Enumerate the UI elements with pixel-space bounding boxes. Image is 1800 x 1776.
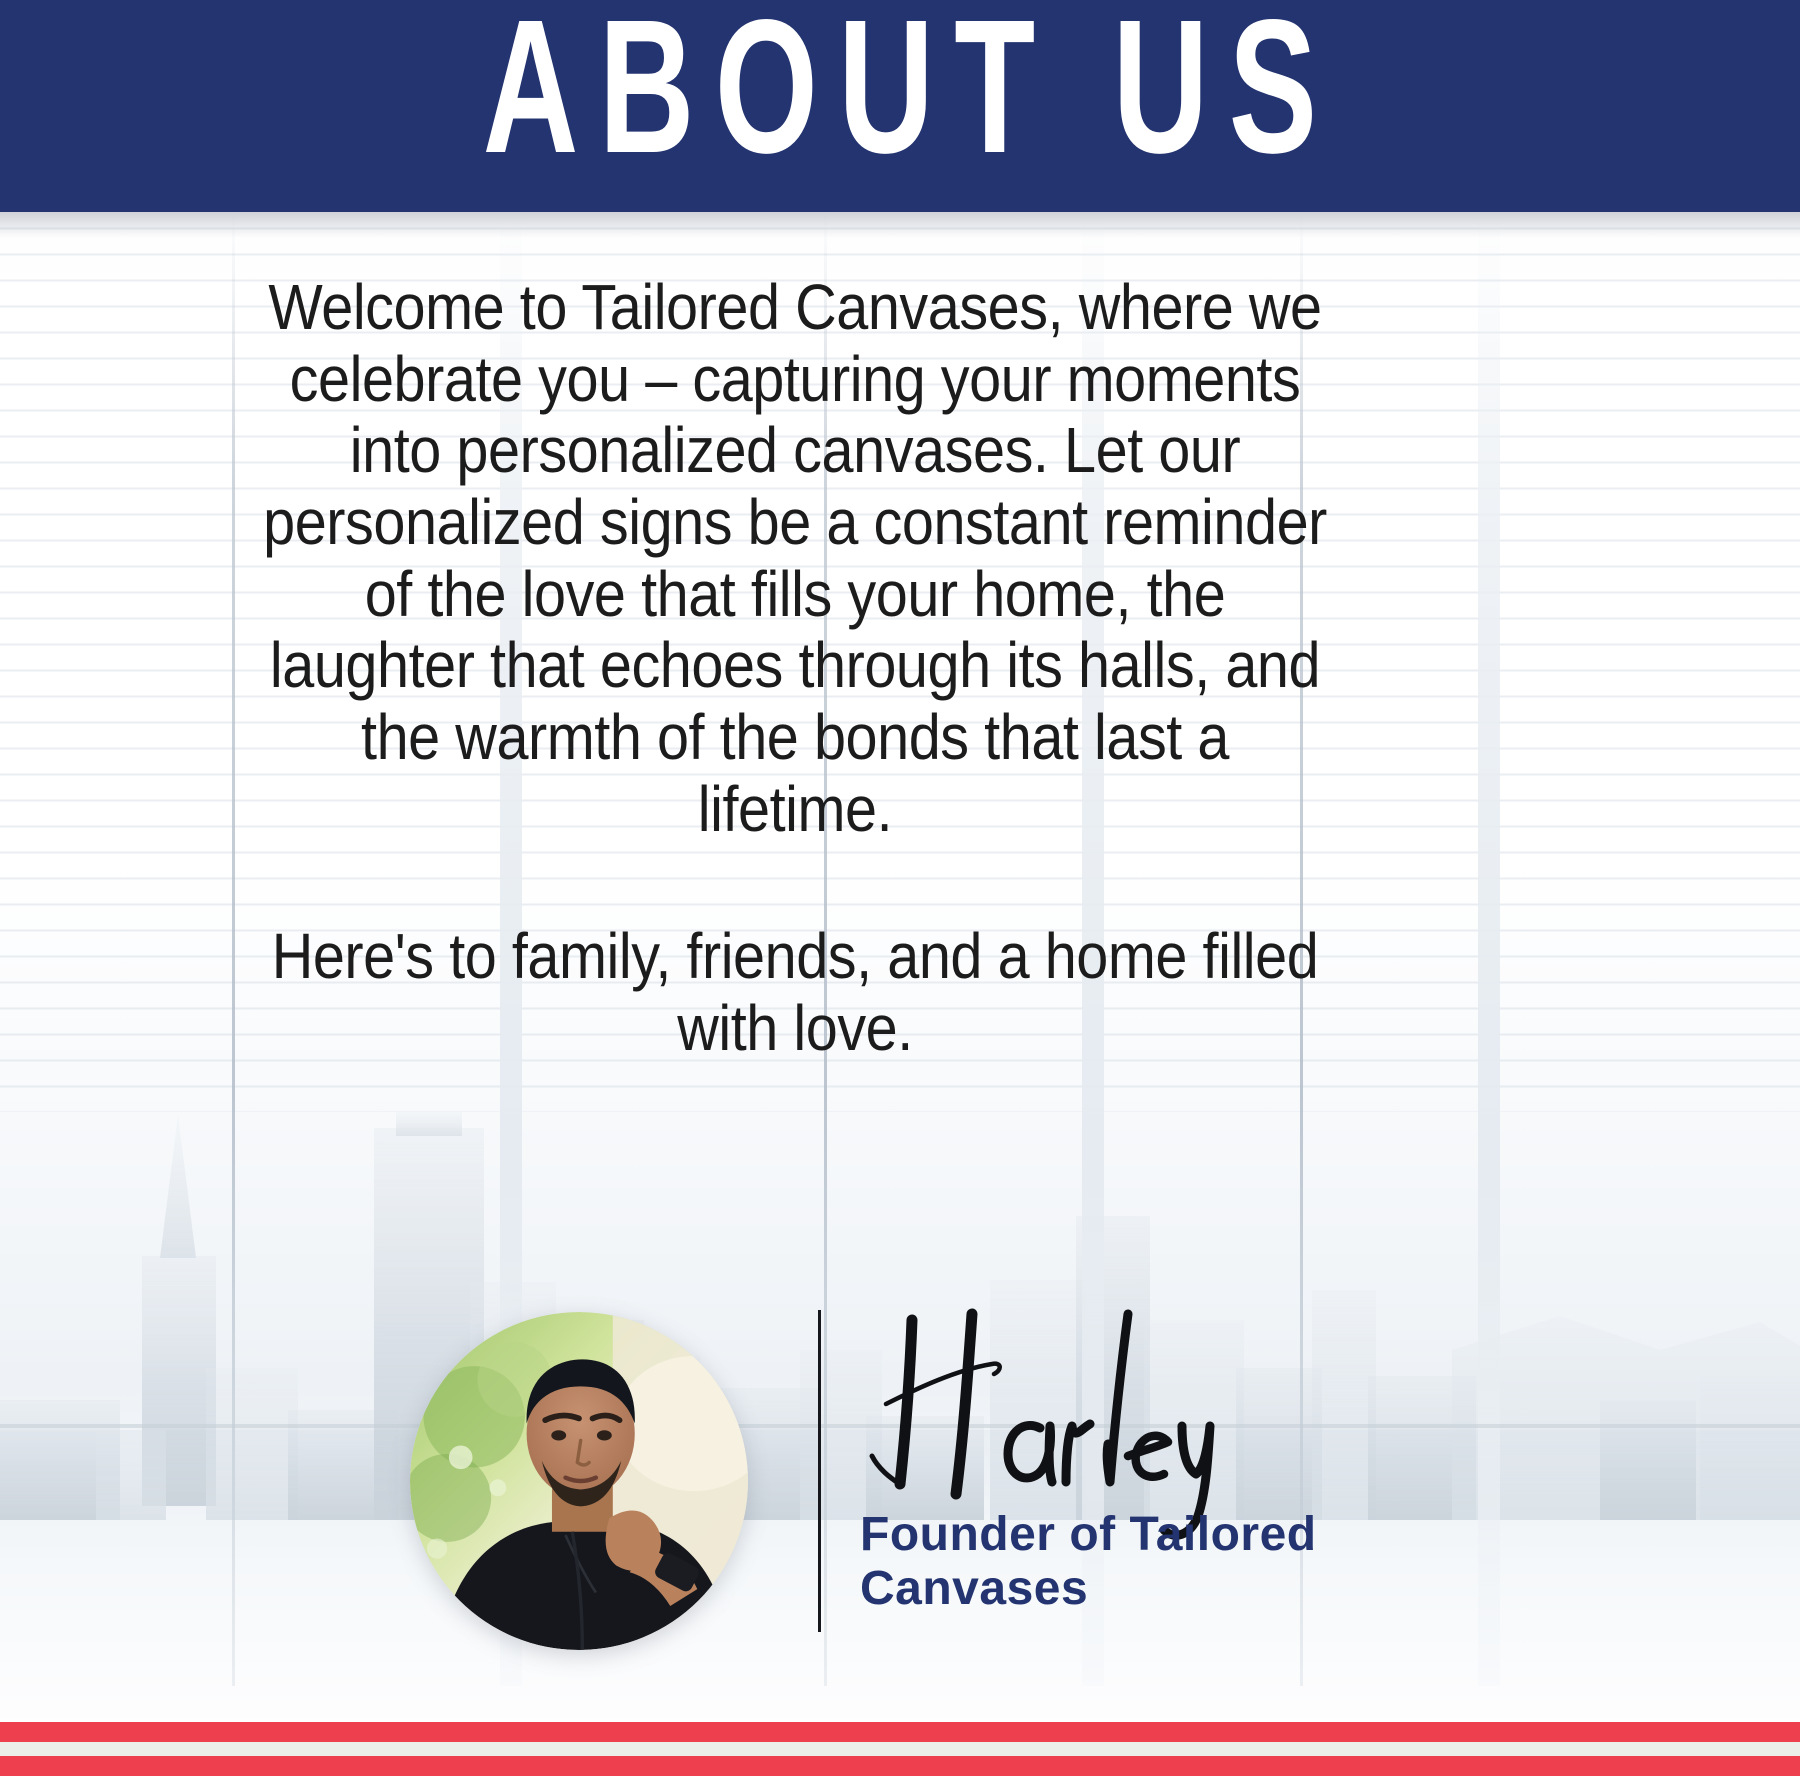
about-us-poster: ABOUT US Welcome to Tailored Canvases, w… (0, 0, 1800, 1776)
window-column (1478, 212, 1500, 1686)
signature-harley (852, 1278, 1372, 1528)
header-banner: ABOUT US (0, 0, 1800, 180)
founder-role-line-1: Founder of Tailored (860, 1508, 1400, 1562)
footer-stripe-top (0, 1722, 1800, 1742)
footer-stripe-gap (0, 1742, 1800, 1756)
signature-divider (818, 1310, 821, 1632)
founder-role: Founder of Tailored Canvases (860, 1508, 1400, 1616)
founder-role-line-2: Canvases (860, 1562, 1400, 1616)
header-drop-shadow (0, 212, 1800, 238)
page-title: ABOUT US (463, 0, 1338, 182)
founder-signature-block: Founder of Tailored Canvases (400, 1300, 1400, 1660)
about-paragraph-2: Here's to family, friends, and a home fi… (260, 921, 1331, 1064)
about-paragraph-1: Welcome to Tailored Canvases, where we c… (260, 272, 1331, 845)
footer-stripe-bottom (0, 1756, 1800, 1776)
header-banner-underline (0, 180, 1800, 212)
avatar (410, 1312, 748, 1650)
about-us-copy: Welcome to Tailored Canvases, where we c… (200, 272, 1390, 1065)
paragraph-spacer (200, 845, 1390, 921)
